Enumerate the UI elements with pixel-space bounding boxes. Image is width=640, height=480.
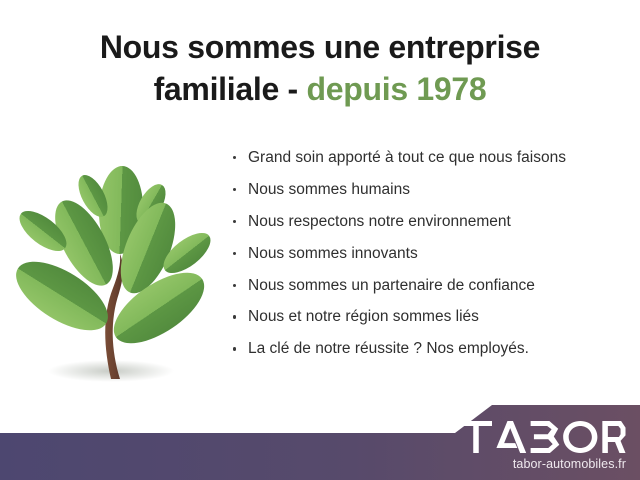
page-title-dash: - [288, 71, 298, 107]
tree-illustration [8, 148, 230, 398]
footer-bar: tabor-automobiles.fr [0, 400, 640, 480]
page-title-since-year: depuis 1978 [307, 71, 487, 107]
list-item: Grand soin apporté à tout ce que nous fa… [228, 148, 640, 167]
list-item: Nous et notre région sommes liés [228, 307, 640, 326]
page-title: Nous sommes une entreprise familiale - d… [0, 26, 640, 110]
slide-root: Nous sommes une entreprise familiale - d… [0, 0, 640, 480]
list-item: Nous sommes humains [228, 180, 640, 199]
brand-tagline: tabor-automobiles.fr [460, 458, 626, 471]
page-title-line-1: Nous sommes une entreprise [0, 26, 640, 68]
page-title-line-2: familiale - depuis 1978 [0, 68, 640, 110]
list-item: Nous sommes innovants [228, 244, 640, 263]
tabor-wordmark-icon [460, 421, 626, 453]
brand-logo[interactable]: tabor-automobiles.fr [460, 421, 626, 471]
list-item: La clé de notre réussite ? Nos employés. [228, 339, 640, 358]
benefits-list: Grand soin apporté à tout ce que nous fa… [228, 148, 640, 371]
page-title-familiale: familiale [154, 71, 279, 107]
list-item: Nous sommes un partenaire de confiance [228, 276, 640, 295]
list-item: Nous respectons notre environnement [228, 212, 640, 231]
